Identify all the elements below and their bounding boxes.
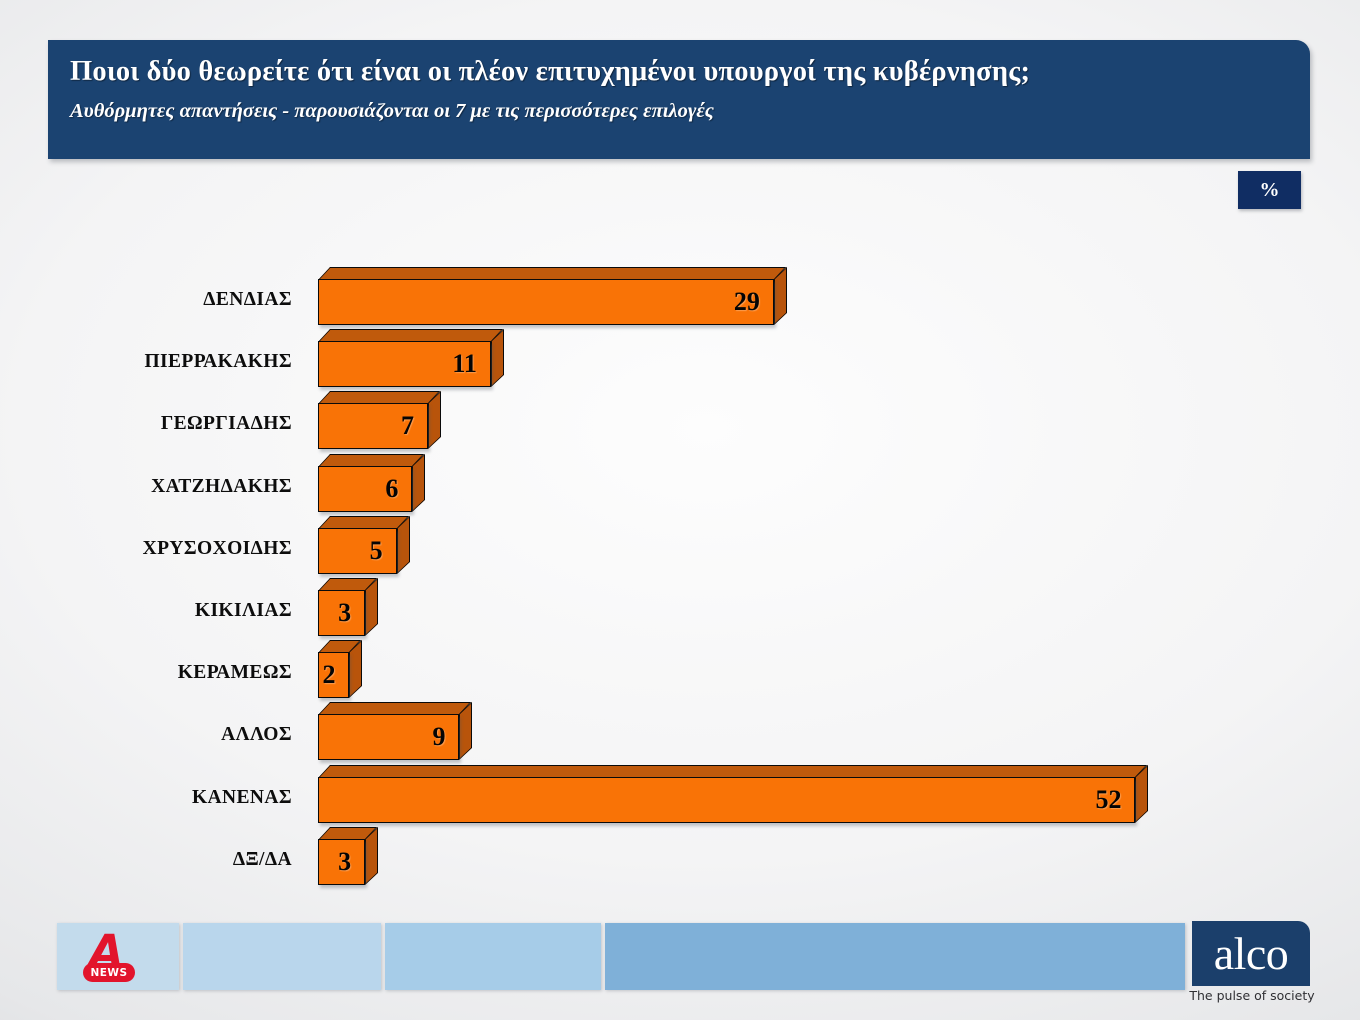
bar-row: ΔΞ/ΔΑ3 bbox=[0, 827, 1360, 889]
bar-value-label: 5 bbox=[318, 528, 383, 574]
bar-row: ΔΕΝΔΙΑΣ29 bbox=[0, 267, 1360, 329]
category-label: ΧΑΤΖΗΔΑΚΗΣ bbox=[60, 476, 292, 498]
category-label: ΧΡΥΣΟΧΟΙΔΗΣ bbox=[60, 538, 292, 560]
alco-wordmark: alco bbox=[1192, 921, 1310, 986]
footer-block-4 bbox=[605, 923, 1185, 990]
slide-canvas: Ποιοι δύο θεωρείτε ότι είναι οι πλέον επ… bbox=[0, 0, 1360, 1020]
bar-chart: ΔΕΝΔΙΑΣ29ΠΙΕΡΡΑΚΑΚΗΣ11ΓΕΩΡΓΙΑΔΗΣ7ΧΑΤΖΗΔΑ… bbox=[0, 0, 1360, 1020]
bar-value-label: 6 bbox=[318, 466, 398, 512]
footer-block-3 bbox=[385, 923, 601, 990]
bar-row: ΑΛΛΟΣ9 bbox=[0, 702, 1360, 764]
bar-value-label: 11 bbox=[318, 341, 477, 387]
bar-value-label: 29 bbox=[318, 279, 760, 325]
bar-row: ΚΕΡΑΜΕΩΣ2 bbox=[0, 640, 1360, 702]
category-label: ΚΑΝΕΝΑΣ bbox=[60, 787, 292, 809]
alpha-news-badge: NEWS bbox=[83, 963, 135, 982]
bar-row: ΚΙΚΙΛΙΑΣ3 bbox=[0, 578, 1360, 640]
footer-block-2 bbox=[183, 923, 381, 990]
bar-row: ΓΕΩΡΓΙΑΔΗΣ7 bbox=[0, 391, 1360, 453]
category-label: ΔΕΝΔΙΑΣ bbox=[60, 289, 292, 311]
category-label: ΚΙΚΙΛΙΑΣ bbox=[60, 600, 292, 622]
bar-row: ΚΑΝΕΝΑΣ52 bbox=[0, 765, 1360, 827]
alco-logo: alco bbox=[1192, 921, 1310, 986]
bar-value-label: 3 bbox=[318, 839, 351, 885]
category-label: ΑΛΛΟΣ bbox=[60, 724, 292, 746]
bar-value-label: 9 bbox=[318, 714, 445, 760]
category-label: ΔΞ/ΔΑ bbox=[60, 849, 292, 871]
bar-value-label: 52 bbox=[318, 777, 1121, 823]
bar-row: ΧΡΥΣΟΧΟΙΔΗΣ5 bbox=[0, 516, 1360, 578]
bar-row: ΧΑΤΖΗΔΑΚΗΣ6 bbox=[0, 454, 1360, 516]
alco-tagline: The pulse of society bbox=[1188, 988, 1316, 1003]
category-label: ΚΕΡΑΜΕΩΣ bbox=[60, 662, 292, 684]
bar-value-label: 7 bbox=[318, 403, 414, 449]
category-label: ΠΙΕΡΡΑΚΑΚΗΣ bbox=[60, 351, 292, 373]
category-label: ΓΕΩΡΓΙΑΔΗΣ bbox=[60, 413, 292, 435]
alpha-news-logo: A NEWS bbox=[75, 930, 147, 986]
bar-value-label: 3 bbox=[318, 590, 351, 636]
bar-row: ΠΙΕΡΡΑΚΑΚΗΣ11 bbox=[0, 329, 1360, 391]
bar-value-label: 2 bbox=[318, 652, 335, 698]
